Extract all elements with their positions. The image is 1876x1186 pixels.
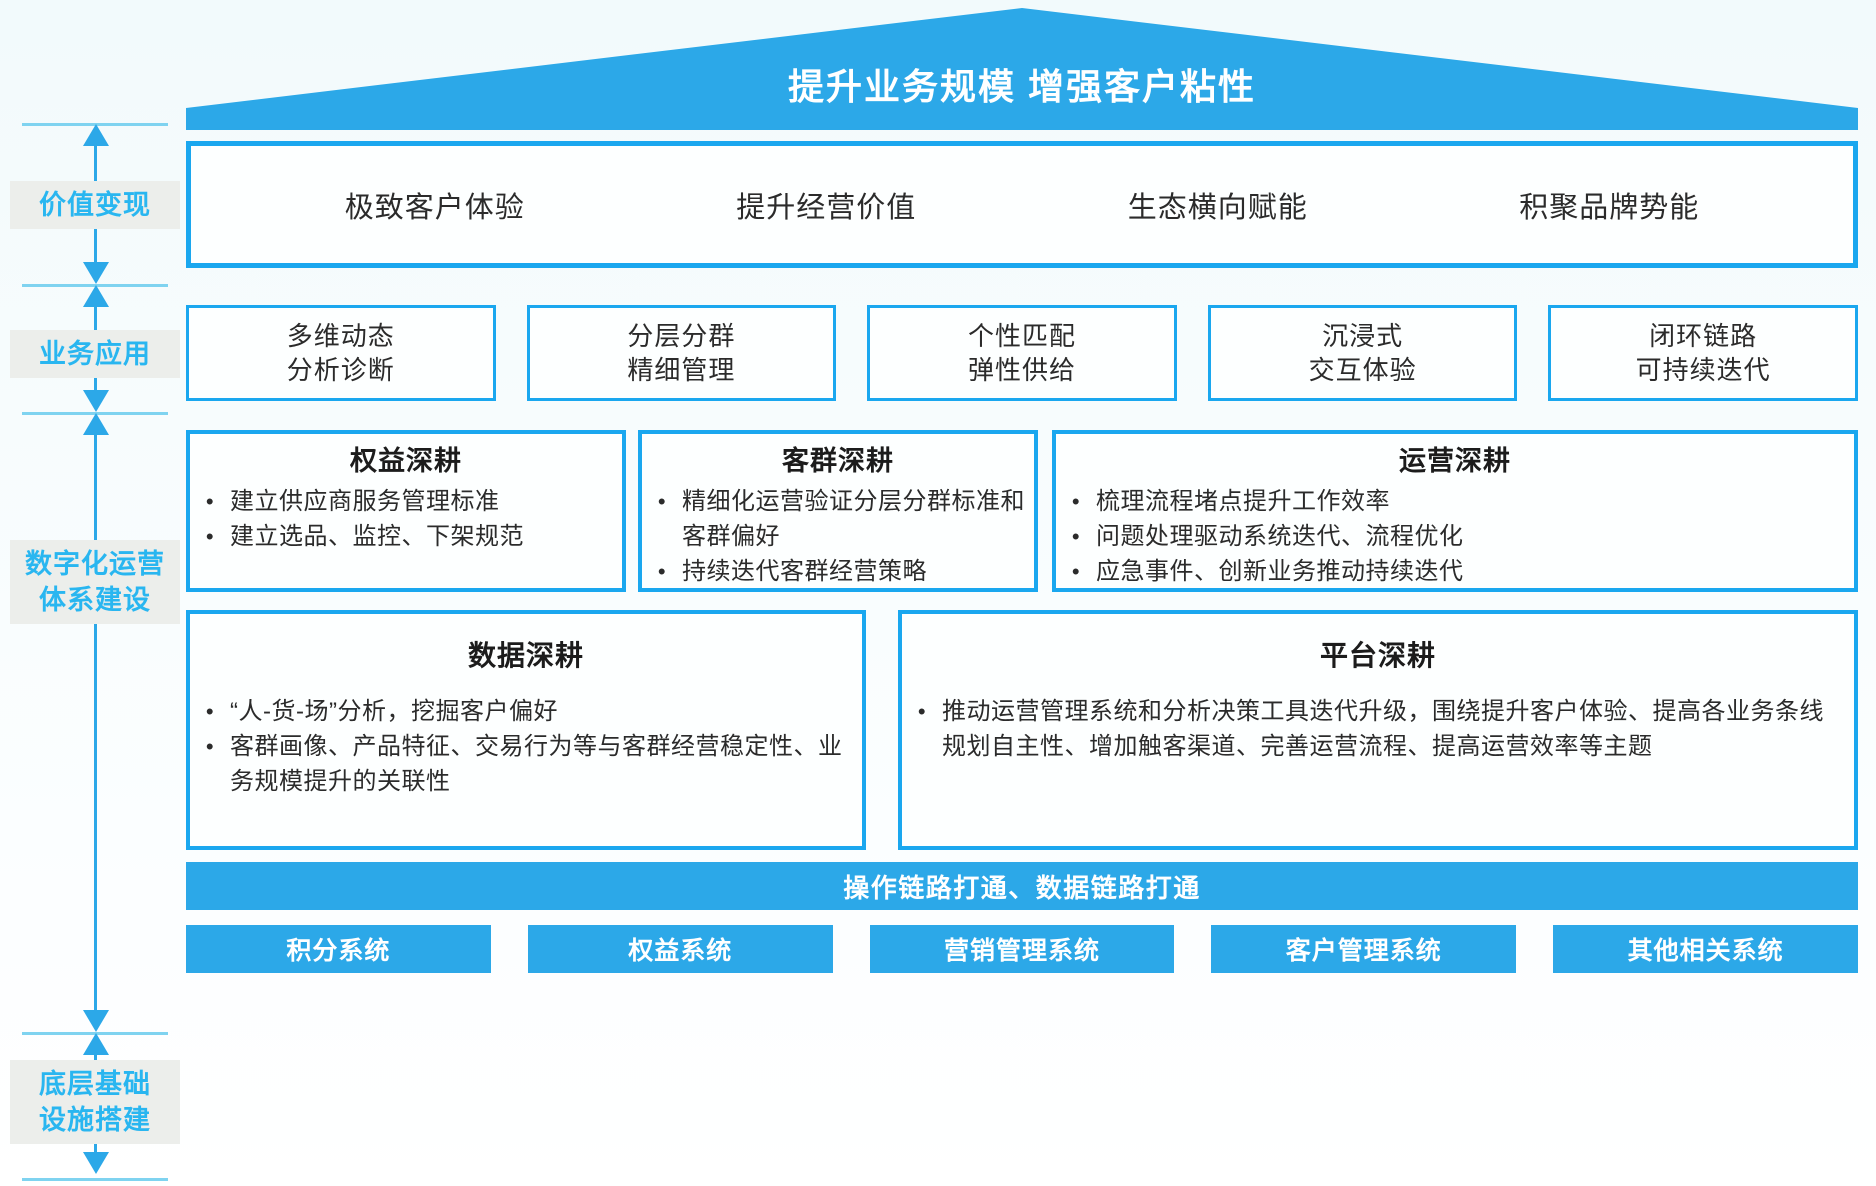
deep-box-title: 权益深耕 [190,442,622,480]
link-through-bar: 操作链路打通、数据链路打通 [186,862,1858,910]
application-layer-row: 多维动态 分析诊断 分层分群 精细管理 个性匹配 弹性供给 沉浸式 交互体验 闭… [186,305,1858,401]
deep-cultivation-row-1: 权益深耕 • 建立供应商服务管理标准 • 建立选品、监控、下架规范 客群深耕 •… [186,430,1858,592]
rail-label-line: 业务应用 [10,336,180,372]
bullet-item: • 持续迭代客群经营策略 [642,554,1034,589]
bullet-dot-icon: • [190,484,230,519]
bullet-text: 建立选品、监控、下架规范 [230,519,622,554]
bullet-text: 建立供应商服务管理标准 [230,484,622,519]
bullet-text: 应急事件、创新业务推动持续迭代 [1096,554,1854,589]
rail-arrow-down-1 [83,262,109,284]
application-box-line2: 弹性供给 [968,353,1076,387]
bullet-item: • 问题处理驱动系统迭代、流程优化 [1056,519,1854,554]
deep-box-kequn: 客群深耕 • 精细化运营验证分层分群标准和客群偏好 • 持续迭代客群经营策略 [638,430,1038,592]
deep-box-title: 平台深耕 [902,636,1854,676]
application-box-line2: 分析诊断 [287,353,395,387]
bullet-text: 问题处理驱动系统迭代、流程优化 [1096,519,1854,554]
rail-label-business-application: 业务应用 [10,330,180,378]
bullet-dot-icon: • [190,729,230,764]
rail-separator-5 [22,1178,168,1181]
stage-rail: 价值变现 业务应用 数字化运营 体系建设 底层基础 设施搭建 [0,0,190,1186]
deep-box-bullet-list: • 推动运营管理系统和分析决策工具迭代升级，围绕提升客户体验、提高各业务条线规划… [902,694,1854,764]
application-box-line1: 个性匹配 [968,319,1076,353]
diagram-canvas: 价值变现 业务应用 数字化运营 体系建设 底层基础 设施搭建 提升业务规模 增强… [0,0,1876,1186]
bullet-item: • 建立选品、监控、下架规范 [190,519,622,554]
system-box-points[interactable]: 积分系统 [186,925,491,973]
application-box-line2: 精细管理 [627,353,735,387]
value-item: 提升经营价值 [736,184,916,226]
bullet-text: 推动运营管理系统和分析决策工具迭代升级，围绕提升客户体验、提高各业务条线规划自主… [942,694,1854,764]
deep-box-bullet-list: • “人-货-场”分析，挖掘客户偏好 • 客群画像、产品特征、交易行为等与客群经… [190,694,862,799]
application-box: 闭环链路 可持续迭代 [1548,305,1858,401]
bullet-dot-icon: • [190,519,230,554]
roof-banner: 提升业务规模 增强客户粘性 [186,8,1858,130]
rail-label-line: 价值变现 [10,187,180,223]
rail-arrow-up-3 [83,413,109,435]
system-box-marketing[interactable]: 营销管理系统 [870,925,1175,973]
application-box-line2: 可持续迭代 [1636,353,1771,387]
rail-label-line: 设施搭建 [10,1102,180,1138]
application-box-line1: 沉浸式 [1322,319,1403,353]
bullet-text: “人-货-场”分析，挖掘客户偏好 [230,694,862,729]
application-box: 个性匹配 弹性供给 [867,305,1177,401]
rail-label-line: 数字化运营 [10,546,180,582]
application-box: 多维动态 分析诊断 [186,305,496,401]
roof-title: 提升业务规模 增强客户粘性 [186,8,1858,130]
rail-label-value-realization: 价值变现 [10,181,180,229]
rail-arrow-down-4 [83,1152,109,1174]
bullet-dot-icon: • [642,554,682,589]
deep-box-title: 运营深耕 [1056,442,1854,480]
bullet-text: 客群画像、产品特征、交易行为等与客群经营稳定性、业务规模提升的关联性 [230,729,862,799]
application-box-line1: 多维动态 [287,319,395,353]
rail-label-digital-operation-system: 数字化运营 体系建设 [10,540,180,624]
deep-box-shuju: 数据深耕 • “人-货-场”分析，挖掘客户偏好 • 客群画像、产品特征、交易行为… [186,610,866,850]
bullet-text: 梳理流程堵点提升工作效率 [1096,484,1854,519]
application-box: 沉浸式 交互体验 [1208,305,1518,401]
value-item: 极致客户体验 [345,184,525,226]
rail-label-infrastructure: 底层基础 设施搭建 [10,1060,180,1144]
deep-box-bullet-list: • 精细化运营验证分层分群标准和客群偏好 • 持续迭代客群经营策略 [642,484,1034,589]
deep-box-pingtai: 平台深耕 • 推动运营管理系统和分析决策工具迭代升级，围绕提升客户体验、提高各业… [898,610,1858,850]
application-box-line1: 闭环链路 [1649,319,1757,353]
bullet-item: • 精细化运营验证分层分群标准和客群偏好 [642,484,1034,554]
application-box-line1: 分层分群 [627,319,735,353]
bullet-item: • 客群画像、产品特征、交易行为等与客群经营稳定性、业务规模提升的关联性 [190,729,862,799]
rail-arrow-down-3 [83,1010,109,1032]
bullet-dot-icon: • [190,694,230,729]
system-box-other[interactable]: 其他相关系统 [1553,925,1858,973]
bullet-item: • 应急事件、创新业务推动持续迭代 [1056,554,1854,589]
system-box-customer[interactable]: 客户管理系统 [1211,925,1516,973]
value-realization-box: 极致客户体验 提升经营价值 生态横向赋能 积聚品牌势能 [186,141,1858,268]
deep-box-quanyi: 权益深耕 • 建立供应商服务管理标准 • 建立选品、监控、下架规范 [186,430,626,592]
bullet-text: 持续迭代客群经营策略 [682,554,1034,589]
rail-label-line: 底层基础 [10,1066,180,1102]
deep-box-title: 客群深耕 [642,442,1034,480]
rail-arrow-up-2 [83,285,109,307]
rail-arrow-down-2 [83,390,109,412]
bullet-dot-icon: • [1056,554,1096,589]
deep-box-yunying: 运营深耕 • 梳理流程堵点提升工作效率 • 问题处理驱动系统迭代、流程优化 • … [1052,430,1858,592]
deep-box-bullet-list: • 建立供应商服务管理标准 • 建立选品、监控、下架规范 [190,484,622,554]
bullet-dot-icon: • [642,484,682,519]
bullet-item: • 梳理流程堵点提升工作效率 [1056,484,1854,519]
bullet-dot-icon: • [902,694,942,729]
bullet-dot-icon: • [1056,519,1096,554]
rail-axis-3 [94,434,97,1024]
bullet-item: • 推动运营管理系统和分析决策工具迭代升级，围绕提升客户体验、提高各业务条线规划… [902,694,1854,764]
bullet-text: 精细化运营验证分层分群标准和客群偏好 [682,484,1034,554]
deep-box-title: 数据深耕 [190,636,862,676]
deep-box-bullet-list: • 梳理流程堵点提升工作效率 • 问题处理驱动系统迭代、流程优化 • 应急事件、… [1056,484,1854,589]
bullet-dot-icon: • [1056,484,1096,519]
rail-arrow-up-4 [83,1033,109,1055]
value-item: 生态横向赋能 [1128,184,1308,226]
system-box-rights[interactable]: 权益系统 [528,925,833,973]
value-item: 积聚品牌势能 [1519,184,1699,226]
application-box-line2: 交互体验 [1309,353,1417,387]
application-box: 分层分群 精细管理 [527,305,837,401]
deep-cultivation-row-2: 数据深耕 • “人-货-场”分析，挖掘客户偏好 • 客群画像、产品特征、交易行为… [186,610,1858,850]
bullet-item: • 建立供应商服务管理标准 [190,484,622,519]
rail-arrow-up-1 [83,124,109,146]
rail-label-line: 体系建设 [10,582,180,618]
bullet-item: • “人-货-场”分析，挖掘客户偏好 [190,694,862,729]
system-row: 积分系统 权益系统 营销管理系统 客户管理系统 其他相关系统 [186,925,1858,973]
